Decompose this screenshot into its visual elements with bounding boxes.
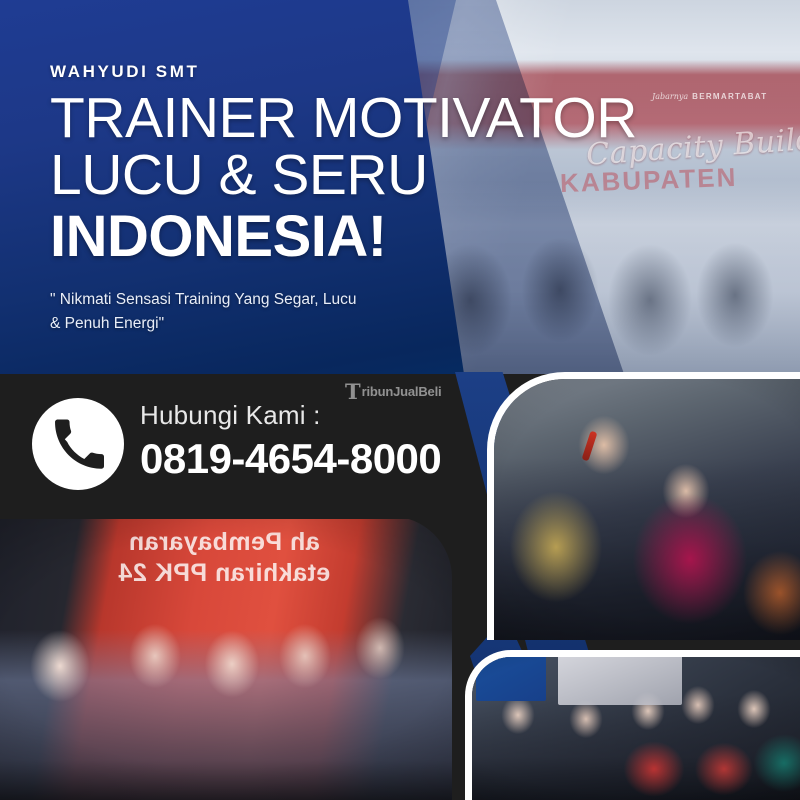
phone-icon[interactable]	[32, 398, 124, 490]
headline-line-3: INDONESIA!	[50, 208, 670, 266]
contact-phone-number[interactable]: 0819-4654-8000	[140, 435, 441, 483]
trainer-with-microphone-photo	[487, 372, 800, 640]
headline-line-1: TRAINER MOTIVATOR	[50, 91, 670, 146]
audience-photo-vignette	[472, 657, 800, 800]
promotional-poster: JabarnyaBERMARTABAT Capacity Building KA…	[0, 0, 800, 800]
hero-section: JabarnyaBERMARTABAT Capacity Building KA…	[0, 0, 800, 374]
hero-text-block: WAHYUDI SMT TRAINER MOTIVATOR LUCU & SER…	[50, 0, 670, 336]
group-photo-vignette	[0, 516, 452, 800]
headline-line-2: LUCU & SERU	[50, 148, 670, 203]
contact-label: Hubungi Kami :	[140, 400, 441, 431]
contact-text-block: Hubungi Kami : 0819-4654-8000	[140, 400, 441, 483]
brand-eyebrow: WAHYUDI SMT	[50, 62, 670, 82]
group-cheering-photo: ah Pembayaran etakhiran PPK 24	[0, 516, 452, 800]
trainer-photo-vignette	[494, 379, 800, 640]
audience-seated-photo	[465, 650, 800, 800]
hero-tagline: " Nikmati Sensasi Training Yang Segar, L…	[50, 288, 360, 336]
